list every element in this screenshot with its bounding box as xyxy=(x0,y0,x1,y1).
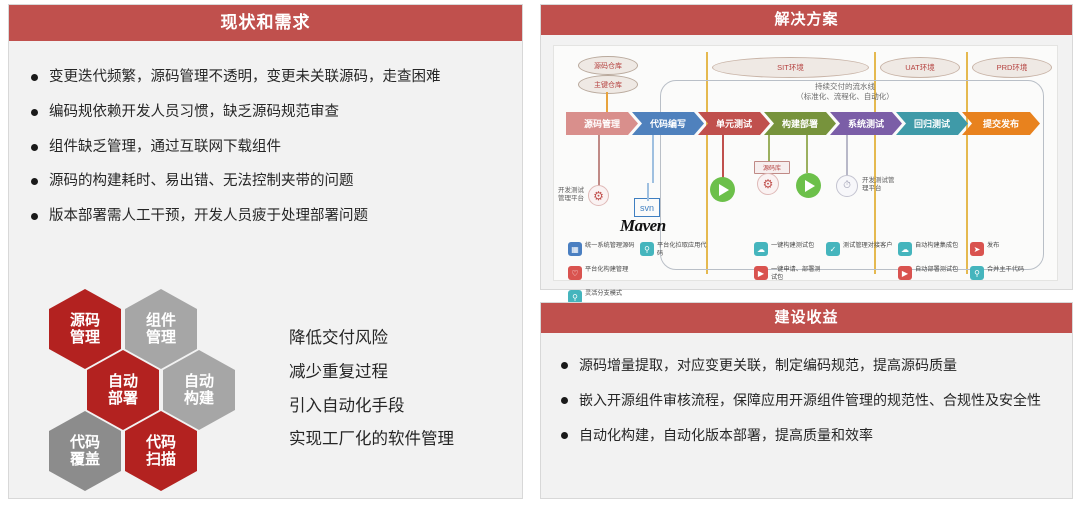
benefits-bullet-list: 源码增量提取，对应变更关联，制定编码规范，提高源码质量 嵌入开源组件审核流程，保… xyxy=(541,333,1072,446)
stage-release[interactable]: 提交发布 xyxy=(962,112,1040,135)
right-bottom-panel-body: 源码增量提取，对应变更关联，制定编码规范，提高源码质量 嵌入开源组件审核流程，保… xyxy=(541,333,1072,446)
legend-item: ☁ 自动构建集成包 xyxy=(898,242,958,256)
hexagon-label-line1: 源码 xyxy=(70,312,100,329)
list-item: 变更迭代频繁，源码管理不透明，变更未关联源码，走查困难 xyxy=(31,67,508,89)
hexagon-code-coverage: 代码 覆盖 xyxy=(49,411,121,491)
play-icon: ▶ xyxy=(754,266,768,280)
hexagon-component-management: 组件 管理 xyxy=(125,289,197,369)
legend-label: 灵活分支模式 xyxy=(585,290,622,298)
list-item: 组件缺乏管理，通过互联网下载组件 xyxy=(31,137,508,159)
legend-label: 一键构建测试包 xyxy=(771,242,814,250)
legend-label: 统一系统管理源码 xyxy=(585,242,635,250)
hexagon-label-line2: 扫描 xyxy=(146,451,176,468)
connector-line xyxy=(722,135,724,179)
hexagon-source-code-management: 源码 管理 xyxy=(49,289,121,369)
legend-label: 平台化拉取应用代码 xyxy=(657,242,707,258)
environment-uat: UAT环境 xyxy=(880,57,960,78)
left-panel-body: 变更迭代频繁，源码管理不透明，变更未关联源码，走查困难 编码规依赖开发人员习惯，… xyxy=(9,41,522,228)
legend-item: ▶ 一键申请、部署测试包 xyxy=(754,266,821,282)
legend-item: ✓ 测试管理对接客户 xyxy=(826,242,893,256)
right-bottom-panel-title: 建设收益 xyxy=(541,303,1072,333)
branch-icon: ⚲ xyxy=(970,266,984,280)
check-icon: ✓ xyxy=(826,242,840,256)
current-status-panel: 现状和需求 变更迭代频繁，源码管理不透明，变更未关联源码，走查困难 编码规依赖开… xyxy=(8,4,523,499)
grid-icon: ▦ xyxy=(568,242,582,256)
branch-icon: ⚲ xyxy=(640,242,654,256)
source-repository-node: 源码仓库 xyxy=(578,56,638,75)
legend-label: 发布 xyxy=(987,242,999,250)
list-item: 嵌入开源组件审核流程，保障应用开源组件管理的规范性、合规性及安全性 xyxy=(561,390,1050,411)
legend-label: 测试管理对接客户 xyxy=(843,242,893,250)
legend-item: ♡ 平台化构建管理 xyxy=(568,266,628,280)
legend-label: 一键申请、部署测试包 xyxy=(771,266,821,282)
hexagon-label-line1: 代码 xyxy=(70,434,100,451)
goal-item: 引入自动化手段 xyxy=(289,397,454,417)
connector-line xyxy=(846,135,848,175)
stage-source-management[interactable]: 源码管理 xyxy=(566,112,638,135)
stage-unit-test[interactable]: 单元测试 xyxy=(698,112,770,135)
connector-line xyxy=(806,135,808,173)
play-icon xyxy=(710,177,735,202)
list-item: 自动化构建，自动化版本部署，提高质量和效率 xyxy=(561,425,1050,446)
list-item: 源码增量提取，对应变更关联，制定编码规范，提高源码质量 xyxy=(561,355,1050,376)
stage-build-deploy[interactable]: 构建部署 xyxy=(764,112,836,135)
benefits-panel: 建设收益 源码增量提取，对应变更关联，制定编码规范，提高源码质量 嵌入开源组件审… xyxy=(540,302,1073,499)
legend-label: 自动构建集成包 xyxy=(915,242,958,250)
slide-root: 现状和需求 变更迭代频繁，源码管理不透明，变更未关联源码，走查困难 编码规依赖开… xyxy=(0,0,1080,503)
play-icon: ▶ xyxy=(898,266,912,280)
source-repo-mini-label: 源码库 xyxy=(754,161,790,174)
legend-item: ⚲ 合并主干代码 xyxy=(970,266,1024,280)
legend-item: ▶ 自动部署测试包 xyxy=(898,266,958,280)
legend-label: 平台化构建管理 xyxy=(585,266,628,274)
environment-prd: PRD环境 xyxy=(972,57,1052,78)
hexagon-auto-build: 自动 构建 xyxy=(163,350,235,430)
hexagon-label-line2: 管理 xyxy=(70,329,100,346)
platform-label-right: 开发测试管理平台 xyxy=(862,177,896,194)
right-top-panel-title: 解决方案 xyxy=(541,5,1072,35)
goals-list: 降低交付风险 减少重复过程 引入自动化手段 实现工厂化的软件管理 xyxy=(289,329,454,464)
hexagon-auto-deploy: 自动 部署 xyxy=(87,350,159,430)
cicd-pipeline-diagram: 源码仓库 主键仓库 SIT环境 UAT环境 PRD环境 持续交付的流水线 （标准… xyxy=(553,45,1058,281)
pipeline-caption-line2: （标准化、流程化、自动化） xyxy=(750,92,940,102)
legend-item: ⚲ 平台化拉取应用代码 xyxy=(640,242,707,258)
legend-label: 自动部署测试包 xyxy=(915,266,958,274)
maven-logo: Maven xyxy=(620,216,666,236)
hexagon-label-line1: 代码 xyxy=(146,434,176,451)
list-item: 版本部署需人工干预，开发人员疲于处理部署问题 xyxy=(31,206,508,228)
connector-line xyxy=(598,135,600,187)
artifact-repository-node: 主键仓库 xyxy=(578,75,638,94)
gear-icon: ⚙ xyxy=(757,173,779,195)
rocket-icon: ➤ xyxy=(970,242,984,256)
capability-hexagon-cluster: 源码 管理 组件 管理 自动 部署 xyxy=(35,289,275,514)
stage-code-writing[interactable]: 代码编写 xyxy=(632,112,704,135)
gear-icon: ⚙ xyxy=(588,185,609,206)
play-icon xyxy=(796,173,821,198)
list-item: 编码规依赖开发人员习惯，缺乏源码规范审查 xyxy=(31,102,508,124)
pipeline-caption: 持续交付的流水线 （标准化、流程化、自动化） xyxy=(750,82,940,102)
hexagon-label-line2: 部署 xyxy=(108,390,138,407)
hexagon-label-line1: 自动 xyxy=(108,373,138,390)
heart-icon: ♡ xyxy=(568,266,582,280)
list-item: 源码的构建耗时、易出错、无法控制夹带的问题 xyxy=(31,171,508,193)
legend-item: ☁ 一键构建测试包 xyxy=(754,242,814,256)
hexagon-label-line2: 构建 xyxy=(184,390,214,407)
connector-line xyxy=(652,135,654,183)
hexagon-code-scan: 代码 扫描 xyxy=(125,411,197,491)
stage-regression-test[interactable]: 回归测试 xyxy=(896,112,968,135)
pipeline-caption-line1: 持续交付的流水线 xyxy=(750,82,940,92)
hexagon-label-line2: 覆盖 xyxy=(70,451,100,468)
legend-label: 合并主干代码 xyxy=(987,266,1024,274)
hexagon-label-line1: 自动 xyxy=(184,373,214,390)
cloud-icon: ☁ xyxy=(898,242,912,256)
left-panel-title: 现状和需求 xyxy=(9,5,522,41)
hexagon-label-line2: 管理 xyxy=(146,329,176,346)
hexagon-label-line1: 组件 xyxy=(146,312,176,329)
legend-item: ➤ 发布 xyxy=(970,242,999,256)
cloud-icon: ☁ xyxy=(754,242,768,256)
goal-item: 实现工厂化的软件管理 xyxy=(289,430,454,450)
goal-item: 降低交付风险 xyxy=(289,329,454,349)
solution-panel: 解决方案 源码仓库 主键仓库 SIT环境 UAT环境 PRD环境 持续 xyxy=(540,4,1073,290)
goal-item: 减少重复过程 xyxy=(289,363,454,383)
gauge-icon: ⏱ xyxy=(836,175,858,197)
environment-sit: SIT环境 xyxy=(712,57,869,78)
connector-line xyxy=(647,183,649,201)
current-status-bullet-list: 变更迭代频繁，源码管理不透明，变更未关联源码，走查困难 编码规依赖开发人员习惯，… xyxy=(9,41,522,228)
stage-system-test[interactable]: 系统测试 xyxy=(830,112,902,135)
platform-label-left: 开发测试管理平台 xyxy=(558,187,588,204)
legend-item: ▦ 统一系统管理源码 xyxy=(568,242,635,256)
